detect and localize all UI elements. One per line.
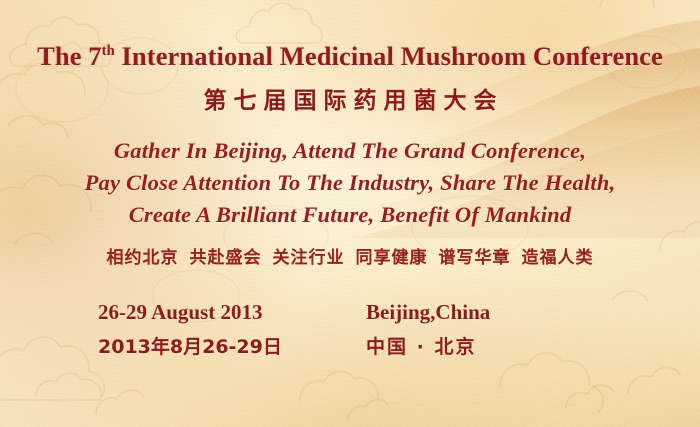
slogan-chinese-part-5: 谱写华章	[439, 243, 511, 268]
slogan-chinese-part-6: 造福人类	[522, 243, 594, 268]
banner-content: The 7th International Medicinal Mushroom…	[0, 0, 700, 427]
conference-title-chinese: 第七届国际药用菌大会	[197, 81, 504, 115]
slogan-chinese-part-4: 同享健康	[356, 243, 428, 268]
slogan-english-line-2: Pay Close Attention To The Industry, Sha…	[85, 168, 616, 198]
slogan-chinese-part-1: 相约北京	[107, 243, 179, 268]
slogan-english-line-1: Gather In Beijing, Attend The Grand Conf…	[114, 136, 586, 166]
event-details-chinese-row: 2013年8月26-29日 中国 · 北京	[90, 332, 610, 359]
slogan-english-line-3: Create A Brilliant Future, Benefit Of Ma…	[129, 200, 572, 230]
event-location-english: Beijing,China	[366, 300, 490, 325]
event-date-chinese: 2013年8月26-29日	[90, 332, 366, 359]
title-prefix: The 7	[37, 41, 102, 71]
slogan-chinese-part-2: 共赴盛会	[190, 243, 262, 268]
event-details-block: 26-29 August 2013 Beijing,China 2013年8月2…	[90, 300, 610, 359]
event-details-english-row: 26-29 August 2013 Beijing,China	[90, 300, 610, 325]
title-rest: International Medicinal Mushroom Confere…	[115, 41, 663, 71]
event-date-english: 26-29 August 2013	[90, 300, 366, 325]
event-location-chinese: 中国 · 北京	[366, 332, 476, 359]
conference-title-english: The 7th International Medicinal Mushroom…	[37, 41, 663, 72]
title-ordinal-suffix: th	[102, 43, 115, 59]
slogan-chinese-part-3: 关注行业	[273, 243, 345, 268]
conference-banner: The 7th International Medicinal Mushroom…	[0, 0, 700, 427]
slogan-english-block: Gather In Beijing, Attend The Grand Conf…	[85, 136, 616, 230]
slogan-chinese-block: 相约北京 共赴盛会 关注行业 同享健康 谱写华章 造福人类	[107, 243, 594, 268]
